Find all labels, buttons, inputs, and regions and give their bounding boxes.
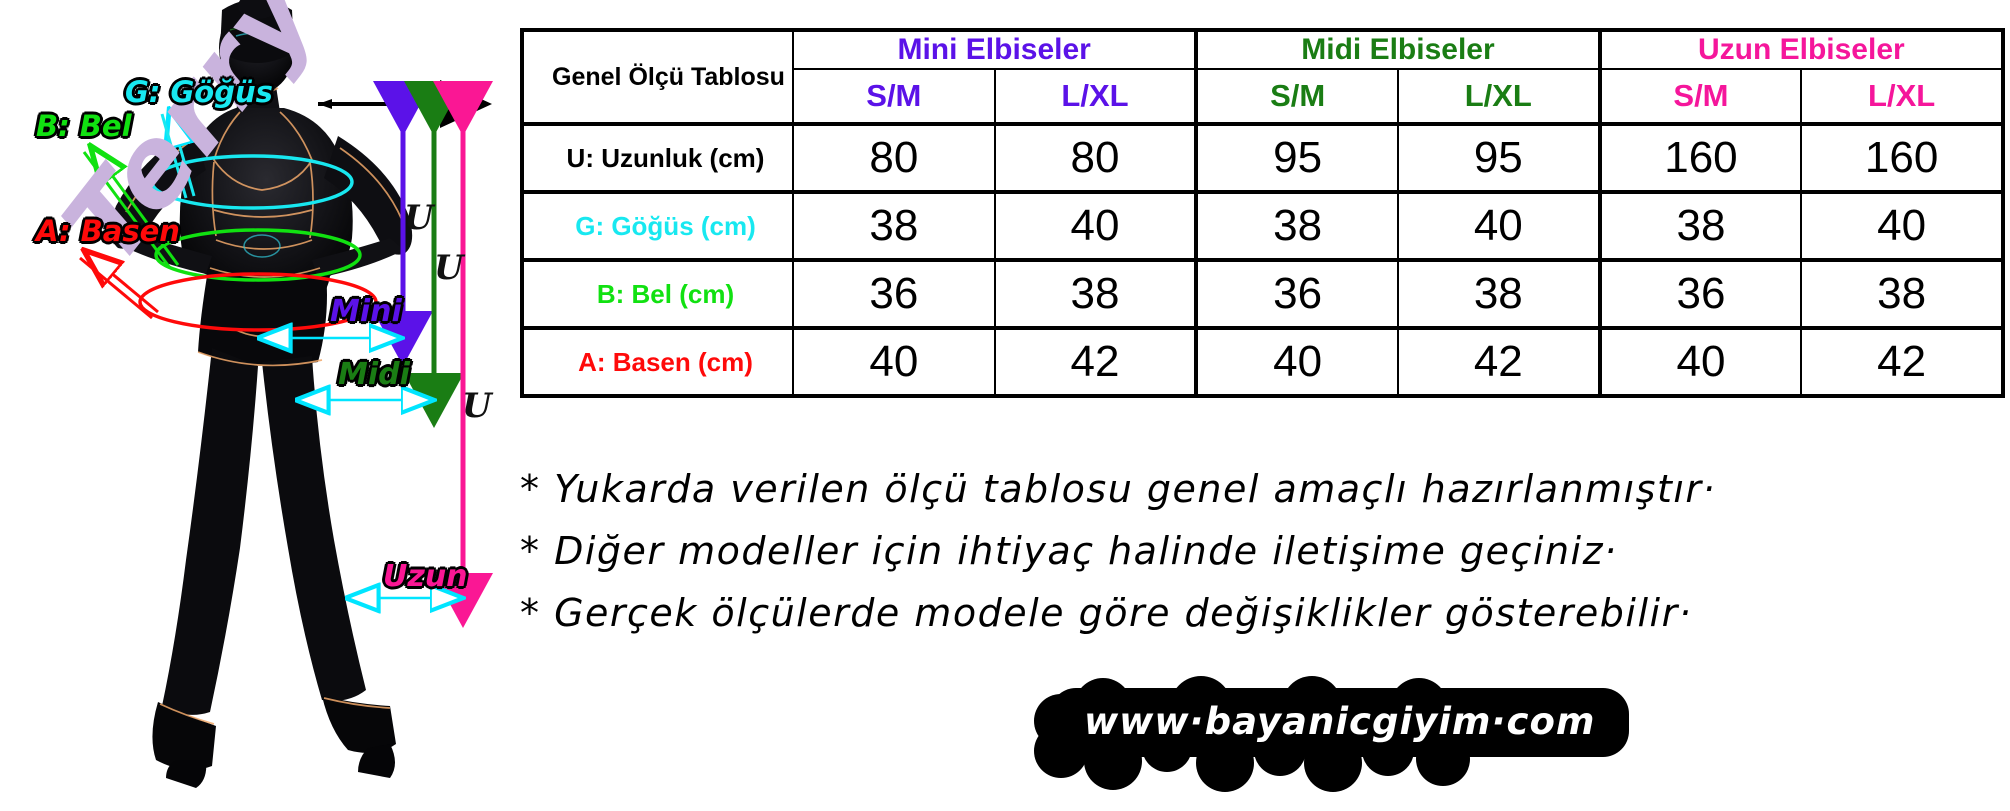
label-uzun: Uzun [383, 562, 468, 592]
note-1: * Yukarda verilen ölçü tablosu genel ama… [520, 470, 2010, 510]
group-header-uzun: Uzun Elbiseler [1600, 30, 2003, 69]
table-row: U: Uzunluk (cm) 80 80 95 95 160 160 [522, 124, 2003, 192]
size-header-uzun-sm: S/M [1600, 69, 1802, 124]
label-mini: Mini [330, 297, 402, 327]
cell-gogus-mini-sm: 38 [793, 192, 995, 260]
cell-uzunluk-uzun-sm: 160 [1600, 124, 1802, 192]
cell-bel-midi-lxl: 38 [1398, 260, 1600, 328]
cell-basen-midi-sm: 40 [1196, 328, 1398, 396]
length-marker-midi: U [434, 248, 464, 288]
cell-uzunluk-mini-sm: 80 [793, 124, 995, 192]
size-header-uzun-lxl: L/XL [1801, 69, 2003, 124]
label-midi: Midi [338, 360, 410, 390]
cell-uzunluk-midi-sm: 95 [1196, 124, 1398, 192]
table-row: G: Göğüs (cm) 38 40 38 40 38 40 [522, 192, 2003, 260]
length-marker-uzun: U [462, 386, 492, 426]
size-header-midi-sm: S/M [1196, 69, 1398, 124]
hip-leader-arrow [80, 252, 158, 318]
size-header-midi-lxl: L/XL [1398, 69, 1600, 124]
size-header-mini-lxl: L/XL [995, 69, 1197, 124]
cell-gogus-uzun-lxl: 40 [1801, 192, 2003, 260]
cell-gogus-midi-sm: 38 [1196, 192, 1398, 260]
chart-panel: Genel Ölçü Tablosu Mini Elbiseler Midi E… [660, 0, 2010, 811]
cell-bel-uzun-lxl: 38 [1801, 260, 2003, 328]
cell-basen-uzun-sm: 40 [1600, 328, 1802, 396]
cell-bel-mini-sm: 36 [793, 260, 995, 328]
row-label-uzunluk: U: Uzunluk (cm) [522, 124, 793, 192]
cell-bel-uzun-sm: 36 [1600, 260, 1802, 328]
cell-basen-mini-lxl: 42 [995, 328, 1197, 396]
length-marker-mini: U [404, 198, 434, 238]
cell-bel-midi-sm: 36 [1196, 260, 1398, 328]
cell-basen-uzun-lxl: 42 [1801, 328, 2003, 396]
note-3: * Gerçek ölçülerde modele göre değişikli… [520, 594, 2010, 634]
website-url[interactable]: www·bayanicgiyim·com [1050, 688, 1629, 757]
cell-uzunluk-midi-lxl: 95 [1398, 124, 1600, 192]
cell-uzunluk-uzun-lxl: 160 [1801, 124, 2003, 192]
cell-gogus-midi-lxl: 40 [1398, 192, 1600, 260]
cell-bel-mini-lxl: 38 [995, 260, 1197, 328]
row-label-gogus: G: Göğüs (cm) [522, 192, 793, 260]
note-2: * Diğer modeller için ihtiyaç halinde il… [520, 532, 2010, 572]
cell-gogus-mini-lxl: 40 [995, 192, 1197, 260]
label-gogus: G: Göğüs [125, 78, 273, 107]
model-silhouette [110, 0, 412, 788]
table-group-header-row: Genel Ölçü Tablosu Mini Elbiseler Midi E… [522, 30, 2003, 69]
notes-list: * Yukarda verilen ölçü tablosu genel ama… [520, 470, 2010, 656]
size-chart-page: Terry Pau G: Göğüs B: Bel A: Basen Mini … [0, 0, 2010, 811]
cell-basen-mini-sm: 40 [793, 328, 995, 396]
row-label-basen: A: Basen (cm) [522, 328, 793, 396]
label-basen: A: Basen [36, 217, 180, 246]
group-header-mini: Mini Elbiseler [793, 30, 1196, 69]
table-row: A: Basen (cm) 40 42 40 42 40 42 [522, 328, 2003, 396]
table-row: B: Bel (cm) 36 38 36 38 36 38 [522, 260, 2003, 328]
table-corner-label: Genel Ölçü Tablosu [522, 30, 793, 124]
size-header-mini-sm: S/M [793, 69, 995, 124]
cell-gogus-uzun-sm: 38 [1600, 192, 1802, 260]
row-label-bel: B: Bel (cm) [522, 260, 793, 328]
group-header-midi: Midi Elbiseler [1196, 30, 1599, 69]
website-banner[interactable]: www·bayanicgiyim·com [1050, 688, 1629, 757]
cell-uzunluk-mini-lxl: 80 [995, 124, 1197, 192]
size-table: Genel Ölçü Tablosu Mini Elbiseler Midi E… [520, 28, 2005, 398]
cell-basen-midi-lxl: 42 [1398, 328, 1600, 396]
label-bel: B: Bel [36, 112, 132, 141]
